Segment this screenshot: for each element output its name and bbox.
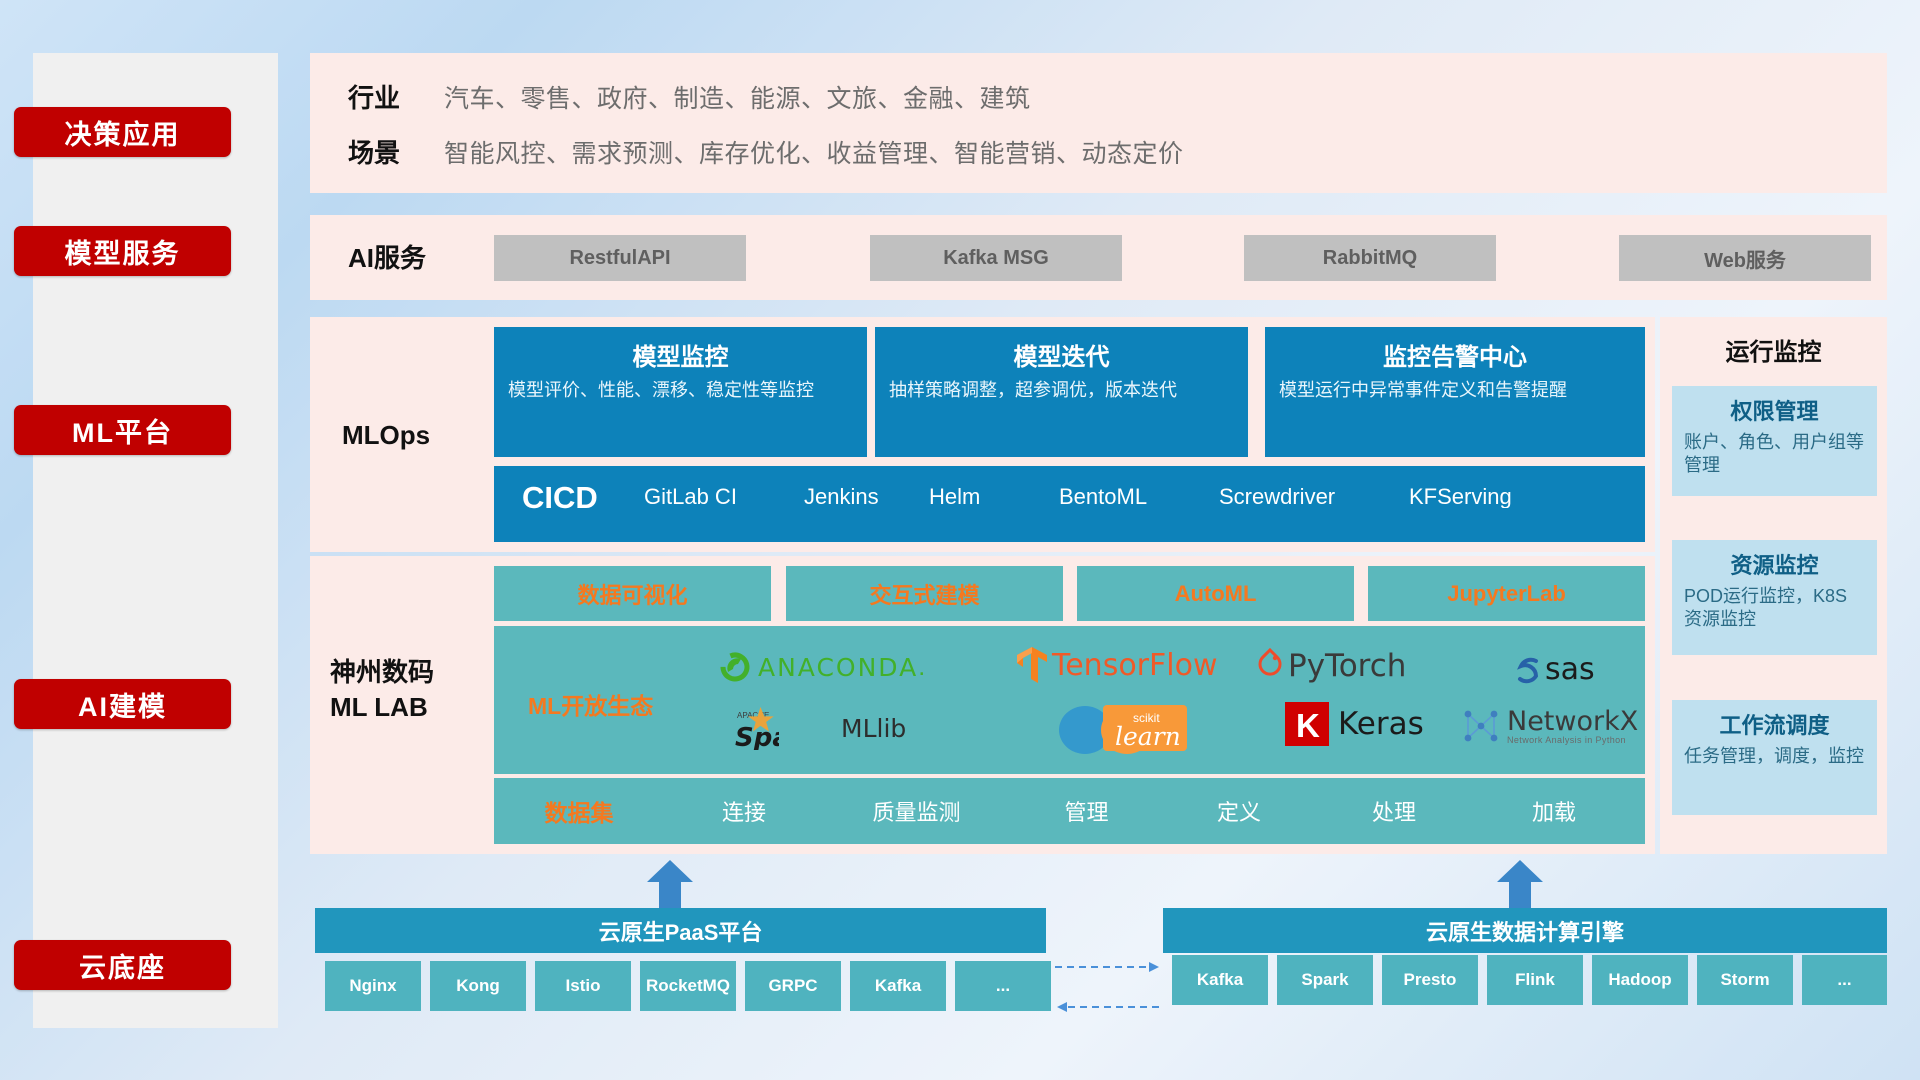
chip-text: Nginx xyxy=(349,977,396,995)
chip-text: Hadoop xyxy=(1608,971,1671,989)
dataset-band: 数据集 连接 质量监测 管理 定义 处理 加载 xyxy=(494,778,1645,844)
tool-chip-automl[interactable]: AutoML xyxy=(1077,566,1354,621)
compute-chip-hadoop[interactable]: Hadoop xyxy=(1592,955,1688,1005)
spark-mllib-logo: APACHE Spark MLlib xyxy=(735,706,906,750)
tensorflow-icon xyxy=(1015,645,1049,685)
ml-lab-label-line1: 神州数码 xyxy=(330,655,490,690)
networkx-logo: NetworkX Network Analysis in Python xyxy=(1460,706,1638,746)
chip-text: Spark xyxy=(1301,971,1348,989)
scenario-value: 智能风控、需求预测、库存优化、收益管理、智能营销、动态定价 xyxy=(444,134,1184,170)
scikit-learn-icon: scikit learn xyxy=(1055,700,1230,756)
anaconda-text: ANACONDA xyxy=(758,653,918,682)
rail-label-cloud-base[interactable]: 云底座 xyxy=(14,940,231,990)
networkx-tagline: Network Analysis in Python xyxy=(1507,735,1638,745)
svg-text:K: K xyxy=(1296,707,1320,744)
paas-chip-nginx[interactable]: Nginx xyxy=(325,961,421,1011)
card-desc: 抽样策略调整，超参调优，版本迭代 xyxy=(889,379,1234,402)
chip-text: Presto xyxy=(1404,971,1457,989)
chip-text: 交互式建模 xyxy=(869,578,979,610)
tensorflow-logo: TensorFlow xyxy=(1015,645,1218,685)
chip-text: RabbitMQ xyxy=(1323,247,1417,270)
chip-text: Istio xyxy=(566,977,601,995)
pytorch-logo: PyTorch xyxy=(1255,648,1406,684)
chip-text: Web服务 xyxy=(1704,244,1786,273)
rail-label-text: 决策应用 xyxy=(65,113,181,152)
compute-chip-flink[interactable]: Flink xyxy=(1487,955,1583,1005)
tool-chip-data-visualization[interactable]: 数据可视化 xyxy=(494,566,771,621)
chip-text: GRPC xyxy=(768,977,817,995)
mlops-card-model-monitoring[interactable]: 模型监控 模型评价、性能、漂移、稳定性等监控 xyxy=(494,327,867,457)
mllib-text: MLlib xyxy=(841,714,906,743)
card-title: 监控告警中心 xyxy=(1279,337,1631,372)
paas-chip-more[interactable]: ... xyxy=(955,961,1051,1011)
compute-chip-storm[interactable]: Storm xyxy=(1697,955,1793,1005)
monitoring-title: 运行监控 xyxy=(1660,332,1887,367)
ml-lab-label: 神州数码 ML LAB xyxy=(330,655,490,725)
chip-text: AutoML xyxy=(1175,581,1257,607)
industry-row: 行业 汽车、零售、政府、制造、能源、文旅、金融、建筑 xyxy=(348,78,1031,115)
rail-label-text: 云底座 xyxy=(79,946,166,985)
paas-platform-bar[interactable]: 云原生PaaS平台 xyxy=(315,908,1046,953)
application-band xyxy=(310,53,1887,193)
pytorch-text: PyTorch xyxy=(1288,648,1406,684)
chip-text: JupyterLab xyxy=(1447,581,1566,607)
chip-text: 数据可视化 xyxy=(577,578,687,610)
paas-chip-istio[interactable]: Istio xyxy=(535,961,631,1011)
dataset-item-define[interactable]: 定义 xyxy=(1164,795,1314,827)
cicd-item-helm[interactable]: Helm xyxy=(929,466,1059,508)
ai-service-chip-kafka-msg[interactable]: Kafka MSG xyxy=(870,235,1122,281)
sas-text: sas xyxy=(1545,652,1595,687)
chip-text: RestfulAPI xyxy=(569,247,670,270)
chip-text: Kafka xyxy=(1197,971,1243,989)
dataset-label: 数据集 xyxy=(494,794,664,828)
svg-text:learn: learn xyxy=(1115,722,1181,751)
ai-service-chip-rabbitmq[interactable]: RabbitMQ xyxy=(1244,235,1496,281)
chip-text: RocketMQ xyxy=(646,977,730,995)
spark-icon: APACHE Spark xyxy=(735,706,779,750)
scenario-key: 场景 xyxy=(348,133,444,170)
keras-logo: K Keras xyxy=(1285,702,1424,746)
cicd-item-screwdriver[interactable]: Screwdriver xyxy=(1219,466,1409,508)
ai-service-label: AI服务 xyxy=(348,241,426,276)
rail-label-text: 模型服务 xyxy=(65,232,181,271)
dataset-item-manage[interactable]: 管理 xyxy=(1009,795,1164,827)
chip-text: Kafka MSG xyxy=(943,247,1049,270)
chip-text: Kafka xyxy=(875,977,921,995)
card-title: 资源监控 xyxy=(1684,548,1865,580)
ml-ecosystem-label: ML开放生态 xyxy=(528,687,653,721)
card-desc: POD运行监控，K8S资源监控 xyxy=(1684,585,1865,631)
tool-chip-jupyterlab[interactable]: JupyterLab xyxy=(1368,566,1645,621)
chip-text: ... xyxy=(996,977,1010,995)
dataset-item-process[interactable]: 处理 xyxy=(1314,795,1474,827)
sas-icon xyxy=(1512,654,1544,686)
networkx-icon xyxy=(1460,706,1502,746)
architecture-diagram: 决策应用 模型服务 ML平台 AI建模 云底座 行业 汽车、零售、政府、制造、能… xyxy=(0,0,1920,1080)
tool-chip-interactive-modeling[interactable]: 交互式建模 xyxy=(786,566,1063,621)
compute-chip-spark[interactable]: Spark xyxy=(1277,955,1373,1005)
chip-text: Flink xyxy=(1515,971,1555,989)
chip-text: Storm xyxy=(1720,971,1769,989)
paas-chip-rocketmq[interactable]: RocketMQ xyxy=(640,961,736,1011)
rail-label-text: AI建模 xyxy=(78,685,167,724)
bar-text: 云原生数据计算引擎 xyxy=(1426,915,1624,947)
card-title: 权限管理 xyxy=(1684,394,1865,426)
dataset-item-load[interactable]: 加载 xyxy=(1474,795,1634,827)
rail-label-model-service[interactable]: 模型服务 xyxy=(14,226,231,276)
card-title: 模型监控 xyxy=(508,337,853,372)
card-desc: 模型评价、性能、漂移、稳定性等监控 xyxy=(508,379,853,402)
mlops-card-alert-center[interactable]: 监控告警中心 模型运行中异常事件定义和告警提醒 xyxy=(1265,327,1645,457)
compute-chip-kafka[interactable]: Kafka xyxy=(1172,955,1268,1005)
arrow-up-compute-icon xyxy=(1495,858,1545,908)
card-desc: 账户、角色、用户组等管理 xyxy=(1684,431,1865,477)
cicd-bar: CICD GitLab CI Jenkins Helm BentoML Scre… xyxy=(494,466,1645,542)
card-desc: 任务管理，调度，监控 xyxy=(1684,745,1865,768)
compute-chip-more[interactable]: ... xyxy=(1802,955,1887,1005)
ai-service-chip-restfulapi[interactable]: RestfulAPI xyxy=(494,235,746,281)
compute-chip-presto[interactable]: Presto xyxy=(1382,955,1478,1005)
scikit-learn-logo: scikit learn xyxy=(1055,700,1230,756)
cicd-item-bentoml[interactable]: BentoML xyxy=(1059,466,1219,508)
chip-text: ... xyxy=(1837,971,1851,989)
compute-engine-bar[interactable]: 云原生数据计算引擎 xyxy=(1163,908,1887,953)
rail-label-decision-app[interactable]: 决策应用 xyxy=(14,107,231,157)
mlops-label: MLOps xyxy=(342,418,430,453)
cicd-item-jenkins[interactable]: Jenkins xyxy=(804,466,929,508)
bar-text: 云原生PaaS平台 xyxy=(599,915,763,947)
scenario-row: 场景 智能风控、需求预测、库存优化、收益管理、智能营销、动态定价 xyxy=(348,133,1184,170)
arrow-up-paas-icon xyxy=(645,858,695,908)
networkx-text: NetworkX xyxy=(1507,708,1638,735)
card-title: 模型迭代 xyxy=(889,337,1234,372)
monitoring-card-resource[interactable]: 资源监控 POD运行监控，K8S资源监控 xyxy=(1672,540,1877,655)
sas-logo: sas xyxy=(1512,652,1595,687)
card-desc: 模型运行中异常事件定义和告警提醒 xyxy=(1279,379,1631,402)
anaconda-logo: ANACONDA . xyxy=(718,650,925,684)
monitoring-card-permission[interactable]: 权限管理 账户、角色、用户组等管理 xyxy=(1672,386,1877,496)
ai-service-chip-web-service[interactable]: Web服务 xyxy=(1619,235,1871,281)
rail-label-ai-modeling[interactable]: AI建模 xyxy=(14,679,231,729)
paas-chip-kong[interactable]: Kong xyxy=(430,961,526,1011)
tensorflow-text: TensorFlow xyxy=(1052,648,1218,683)
industry-value: 汽车、零售、政府、制造、能源、文旅、金融、建筑 xyxy=(444,79,1031,115)
industry-key: 行业 xyxy=(348,78,444,115)
card-title: 工作流调度 xyxy=(1684,708,1865,740)
anaconda-icon xyxy=(718,650,752,684)
paas-chip-grpc[interactable]: GRPC xyxy=(745,961,841,1011)
cicd-title: CICD xyxy=(494,466,644,516)
dataset-item-connect[interactable]: 连接 xyxy=(664,795,824,827)
cicd-item-kfserving[interactable]: KFServing xyxy=(1409,466,1569,508)
svg-text:Spark: Spark xyxy=(735,723,779,750)
paas-chip-kafka[interactable]: Kafka xyxy=(850,961,946,1011)
keras-text: Keras xyxy=(1338,706,1424,742)
dataset-item-quality[interactable]: 质量监测 xyxy=(824,795,1009,827)
pytorch-icon xyxy=(1255,648,1285,684)
layer-rail xyxy=(33,53,278,1028)
dashed-connector-icon xyxy=(1055,955,1165,1025)
rail-label-ml-platform[interactable]: ML平台 xyxy=(14,405,231,455)
cicd-item-gitlab-ci[interactable]: GitLab CI xyxy=(644,466,804,508)
keras-icon: K xyxy=(1285,702,1329,746)
mlops-card-model-iteration[interactable]: 模型迭代 抽样策略调整，超参调优，版本迭代 xyxy=(875,327,1248,457)
chip-text: Kong xyxy=(456,977,499,995)
ml-lab-label-line2: ML LAB xyxy=(330,690,490,725)
monitoring-card-workflow[interactable]: 工作流调度 任务管理，调度，监控 xyxy=(1672,700,1877,815)
rail-label-text: ML平台 xyxy=(72,411,173,450)
